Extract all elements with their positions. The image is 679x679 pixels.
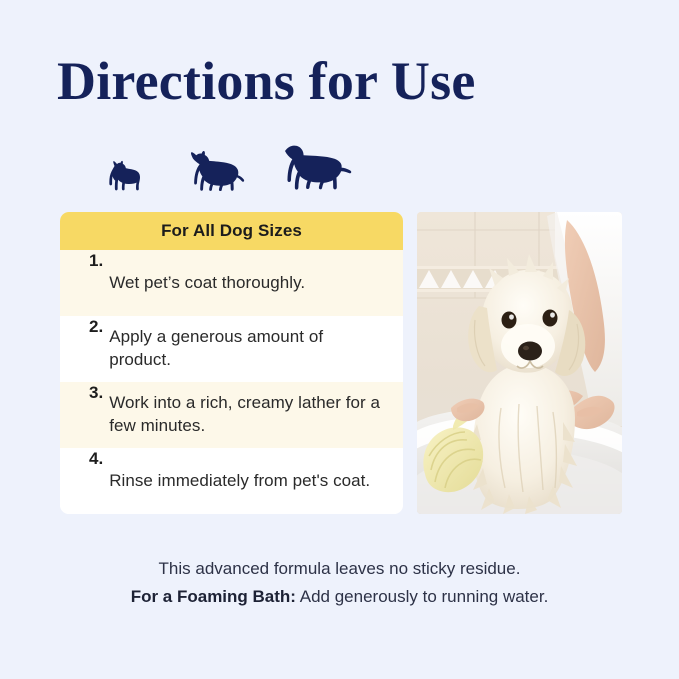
step-number: 2. — [89, 316, 103, 337]
instructions-card: For All Dog Sizes 1. Wet pet’s coat thor… — [60, 212, 403, 514]
large-dog-silhouette-icon — [273, 143, 353, 191]
medium-dog-silhouette-icon — [183, 149, 245, 191]
footer-line-2: For a Foaming Bath: Add generously to ru… — [0, 585, 679, 610]
footer-rest-text: Add generously to running water. — [296, 587, 548, 606]
step-number: 3. — [89, 382, 103, 403]
list-item: 1. Wet pet’s coat thoroughly. — [60, 250, 403, 316]
directions-for-use-page: Directions for Use For All Dog Sizes 1. — [0, 0, 679, 679]
list-item: 4. Rinse immediately from pet's coat. — [60, 448, 403, 514]
dog-size-icons — [105, 143, 365, 191]
card-header-label: For All Dog Sizes — [60, 212, 403, 250]
page-title: Directions for Use — [57, 52, 476, 111]
step-text: Rinse immediately from pet's coat. — [109, 470, 370, 493]
footer-line-1: This advanced formula leaves no sticky r… — [0, 557, 679, 582]
step-text: Wet pet’s coat thoroughly. — [109, 272, 305, 295]
step-number: 1. — [89, 250, 103, 271]
step-text: Apply a generous amount of product. — [109, 326, 381, 372]
steps-list: 1. Wet pet’s coat thoroughly. 2. Apply a… — [60, 250, 403, 514]
footer-bold-label: For a Foaming Bath: — [131, 587, 296, 606]
step-number: 4. — [89, 448, 103, 469]
step-text: Work into a rich, creamy lather for a fe… — [109, 392, 381, 438]
footer-note: This advanced formula leaves no sticky r… — [0, 557, 679, 609]
list-item: 3. Work into a rich, creamy lather for a… — [60, 382, 403, 448]
small-dog-silhouette-icon — [108, 159, 144, 191]
puppy-bath-photo — [417, 212, 622, 514]
list-item: 2. Apply a generous amount of product. — [60, 316, 403, 382]
